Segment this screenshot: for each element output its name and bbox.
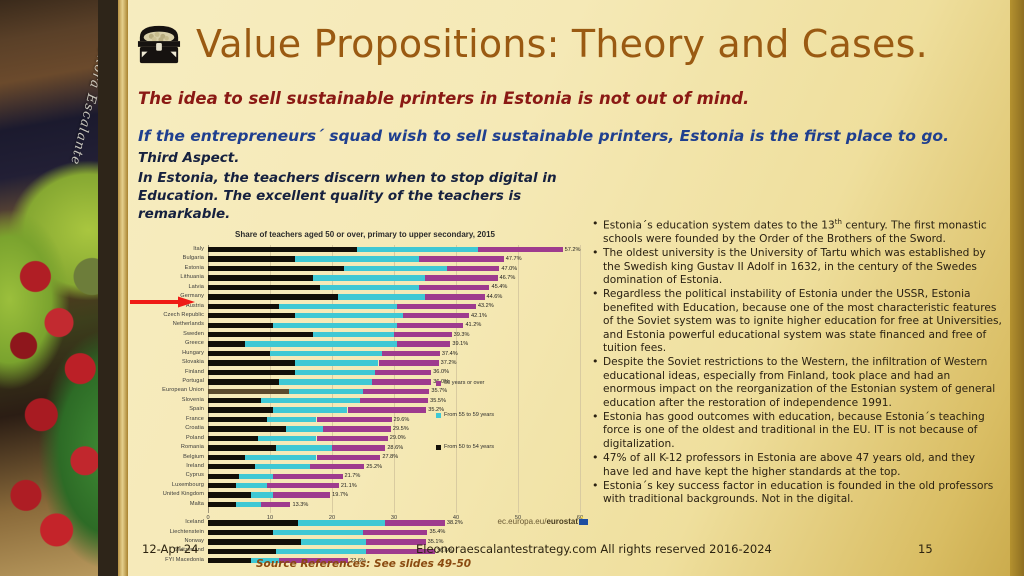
legend-item: 60 years or over <box>436 380 546 386</box>
bullet-item: Estonia has good outcomes with education… <box>590 411 1002 451</box>
segment-60-plus <box>397 323 463 328</box>
chart-value-label: 37.2% <box>439 360 457 366</box>
chart-row-label: Finland <box>140 370 208 376</box>
segment-50-54 <box>208 426 286 431</box>
segment-60-plus <box>273 492 330 497</box>
bullet-item: Despite the Soviet restrictions to the W… <box>590 356 1002 410</box>
segment-50-54 <box>208 445 276 450</box>
chart-row-label: Estonia <box>140 266 208 272</box>
chart-row: Germany44.6% <box>140 292 580 301</box>
bullet-item: The oldest university is the University … <box>590 247 1002 287</box>
chart-row-label: Italy <box>140 247 208 253</box>
bullet-item: Estonia´s education system dates to the … <box>590 218 1002 246</box>
chart-value-label: 27.8% <box>380 454 398 460</box>
chart-row-label: European Union <box>140 388 208 394</box>
segment-60-plus <box>419 285 490 290</box>
segment-50-54 <box>208 256 295 261</box>
segment-55-59 <box>289 389 363 394</box>
chart-row-label: Hungary <box>140 351 208 357</box>
segment-60-plus <box>372 379 431 384</box>
chart-value-label: 37.4% <box>440 351 458 357</box>
segment-55-59 <box>245 455 316 460</box>
subtitle-red: The idea to sell sustainable printers in… <box>138 89 749 108</box>
chart-row: Czech Republic42.1% <box>140 311 580 320</box>
segment-50-54 <box>208 341 245 346</box>
chart-row-label: Malta <box>140 502 208 508</box>
bullet-item: Estonia´s key success factor in educatio… <box>590 480 1002 507</box>
chart-bar: 19.7% <box>208 492 580 497</box>
bullet-item: 47% of all K-12 professors in Estonia ar… <box>590 452 1002 479</box>
chart-row-label: Luxembourg <box>140 483 208 489</box>
chart-row: Slovakia37.2% <box>140 358 580 367</box>
x-tick-label: 0 <box>206 515 209 521</box>
legend-label: 60 years or over <box>444 380 484 386</box>
segment-50-54 <box>208 323 273 328</box>
treasure-chest-icon <box>136 22 182 66</box>
segment-60-plus <box>403 313 469 318</box>
segment-50-54 <box>208 483 236 488</box>
legend-item: From 50 to 54 years <box>436 444 546 450</box>
segment-55-59 <box>270 351 382 356</box>
chart-bar: 39.1% <box>208 341 580 346</box>
legend-swatch <box>436 413 441 418</box>
segment-50-54 <box>208 313 295 318</box>
segment-55-59 <box>273 323 397 328</box>
chart-value-label: 21.1% <box>339 483 357 489</box>
segment-55-59 <box>255 464 311 469</box>
chart-value-label: 39.3% <box>452 332 470 338</box>
chart-row-label: France <box>140 417 208 423</box>
chart-row: Austria43.2% <box>140 302 580 311</box>
legend-swatch <box>436 445 441 450</box>
subtitle-body: In Estonia, the teachers discern when to… <box>138 170 608 224</box>
segment-50-54 <box>208 502 236 507</box>
segment-60-plus <box>394 332 452 337</box>
segment-60-plus <box>425 294 485 299</box>
chart-row-label: Romania <box>140 445 208 451</box>
segment-60-plus <box>267 483 339 488</box>
legend-label: From 55 to 59 years <box>444 412 494 418</box>
chart-bar: 44.6% <box>208 294 580 299</box>
segment-55-59 <box>273 407 347 412</box>
subtitle-blue: If the entrepreneurs´ squad wish to sell… <box>138 127 949 145</box>
segment-55-59 <box>267 417 317 422</box>
segment-60-plus <box>317 436 388 441</box>
chart-value-label: 29.6% <box>392 417 410 423</box>
segment-50-54 <box>208 304 279 309</box>
chart-row-label: Czech Republic <box>140 313 208 319</box>
segment-60-plus <box>310 464 364 469</box>
segment-50-54 <box>208 464 255 469</box>
segment-50-54 <box>208 389 289 394</box>
slide-canvas: Eleonora Escalante Value Propositions: T… <box>0 0 1024 576</box>
footer-copyright: Eleonoraescalantestrategy.com All rights… <box>416 542 772 556</box>
chart-bar: 47.7% <box>208 256 580 261</box>
segment-50-54 <box>208 285 320 290</box>
chart-row: Latvia45.4% <box>140 283 580 292</box>
segment-60-plus <box>478 247 563 252</box>
segment-60-plus <box>375 370 431 375</box>
segment-55-59 <box>279 304 397 309</box>
chart-legend: 60 years or overFrom 55 to 59 yearsFrom … <box>436 380 546 476</box>
bullet-item: Regardless the political instability of … <box>590 288 1002 355</box>
segment-55-59 <box>295 313 404 318</box>
chart-row-label: Slovakia <box>140 360 208 366</box>
chart-bar: 43.2% <box>208 304 580 309</box>
chart-value-label: 47.0% <box>499 266 517 272</box>
chart-value-label: 19.7% <box>330 492 348 498</box>
chart-title: Share of teachers aged 50 or over, prima… <box>140 230 590 239</box>
segment-60-plus <box>273 474 342 479</box>
legend-item: From 55 to 59 years <box>436 412 546 418</box>
chart-row: United Kingdom19.7% <box>140 490 580 499</box>
chart-row: Lithuania46.7% <box>140 273 580 282</box>
chart-bar: 36.0% <box>208 370 580 375</box>
x-tick-label: 40 <box>453 515 459 521</box>
chart-plot-area: Italy57.2%Bulgaria47.7%Estonia47.0%Lithu… <box>140 245 590 527</box>
chart-row-label: Poland <box>140 436 208 442</box>
chart-row-label: Ireland <box>140 464 208 470</box>
segment-55-59 <box>239 474 273 479</box>
chart-value-label: 25.2% <box>364 464 382 470</box>
eurostat-chart: Share of teachers aged 50 or over, prima… <box>140 230 590 540</box>
chart-row: Italy57.2% <box>140 245 580 254</box>
chart-bar: 46.7% <box>208 275 580 280</box>
chart-row-label: Portugal <box>140 379 208 385</box>
chart-value-label: 57.2% <box>563 247 581 253</box>
chart-row-label: Latvia <box>140 285 208 291</box>
chart-value-label: 43.2% <box>476 303 494 309</box>
eu-flag-icon <box>579 519 588 525</box>
segment-55-59 <box>313 275 425 280</box>
chart-value-label: 47.7% <box>504 256 522 262</box>
segment-50-54 <box>208 332 313 337</box>
chart-value-label: 13.3% <box>290 502 308 508</box>
segment-60-plus <box>317 455 381 460</box>
segment-55-59 <box>276 445 332 450</box>
page-title: Value Propositions: Theory and Cases. <box>196 22 928 66</box>
chart-bar: 13.3% <box>208 502 580 507</box>
chart-bar: 39.3% <box>208 332 580 337</box>
segment-50-54 <box>208 275 313 280</box>
chart-row: Malta13.3% <box>140 500 580 509</box>
segment-50-54 <box>208 474 239 479</box>
bullet-panel: Estonia´s education system dates to the … <box>590 218 1002 508</box>
chart-row-label: United Kingdom <box>140 492 208 498</box>
segment-60-plus <box>332 445 385 450</box>
title-row: Value Propositions: Theory and Cases. <box>136 22 928 66</box>
chart-value-label: 45.4% <box>489 284 507 290</box>
chart-bar: 41.2% <box>208 323 580 328</box>
chart-row-label: Spain <box>140 407 208 413</box>
eurostat-logo: ec.europa.eu/eurostat <box>498 517 589 526</box>
chart-bar: 45.4% <box>208 285 580 290</box>
segment-55-59 <box>245 341 397 346</box>
artwork-dark-border <box>98 0 118 576</box>
segment-60-plus <box>323 426 391 431</box>
segment-55-59 <box>251 492 273 497</box>
chart-row: Luxembourg21.1% <box>140 481 580 490</box>
segment-55-59 <box>236 483 267 488</box>
bullet-list: Estonia´s education system dates to the … <box>590 218 1002 507</box>
segment-60-plus <box>360 398 428 403</box>
segment-50-54 <box>208 492 251 497</box>
segment-55-59 <box>313 332 394 337</box>
segment-55-59 <box>357 247 478 252</box>
footer-source-reference: Source References: See slides 49-50 <box>256 558 471 570</box>
chart-row-label: Belgium <box>140 455 208 461</box>
chart-bar: 21.1% <box>208 483 580 488</box>
segment-55-59 <box>295 370 376 375</box>
red-arrow-pointer <box>130 296 196 308</box>
segment-55-59 <box>236 502 261 507</box>
chart-row: Estonia47.0% <box>140 264 580 273</box>
chart-row-label: Iceland <box>140 520 208 526</box>
segment-60-plus <box>419 256 504 261</box>
segment-55-59 <box>320 285 419 290</box>
x-tick-label: 30 <box>391 515 397 521</box>
chart-row-label: Netherlands <box>140 322 208 328</box>
segment-60-plus <box>348 407 427 412</box>
chart-row-label: Sweden <box>140 332 208 338</box>
chart-row: Hungary37.4% <box>140 349 580 358</box>
chart-bar: 42.1% <box>208 313 580 318</box>
chart-row: Greece39.1% <box>140 339 580 348</box>
segment-50-54 <box>208 436 258 441</box>
chart-row-label: Greece <box>140 341 208 347</box>
chart-value-label: 44.6% <box>485 294 503 300</box>
chart-row: Finland36.0% <box>140 368 580 377</box>
chart-value-label: 36.0% <box>431 369 449 375</box>
chart-bar: 57.2% <box>208 247 580 252</box>
segment-60-plus <box>425 275 498 280</box>
segment-55-59 <box>295 256 419 261</box>
slide-footer: 12-Apr-24 Eleonoraescalantestrategy.com … <box>128 534 1010 576</box>
segment-55-59 <box>344 266 446 271</box>
chart-value-label: 28.6% <box>385 445 403 451</box>
segment-50-54 <box>208 455 245 460</box>
segment-60-plus <box>363 389 429 394</box>
chart-bar: 47.0% <box>208 266 580 271</box>
segment-60-plus <box>261 502 291 507</box>
segment-50-54 <box>208 417 267 422</box>
chart-row-label: Cyprus <box>140 473 208 479</box>
x-tick-label: 10 <box>267 515 273 521</box>
x-tick-label: 20 <box>329 515 335 521</box>
footer-date: 12-Apr-24 <box>142 542 198 556</box>
chart-row-label: Bulgaria <box>140 256 208 262</box>
artwork-gold-border <box>118 0 128 576</box>
segment-50-54 <box>208 379 279 384</box>
chart-value-label: 41.2% <box>463 322 481 328</box>
subtitle-third-aspect: Third Aspect. <box>138 150 239 166</box>
segment-60-plus <box>382 351 440 356</box>
chart-value-label: 21.7% <box>343 473 361 479</box>
chart-value-label: 46.7% <box>498 275 516 281</box>
chart-value-label: 39.1% <box>450 341 468 347</box>
legend-label: From 50 to 54 years <box>444 444 494 450</box>
chart-row-label: Lithuania <box>140 275 208 281</box>
segment-50-54 <box>208 266 344 271</box>
segment-50-54 <box>208 370 295 375</box>
chart-row-label: Slovenia <box>140 398 208 404</box>
segment-60-plus <box>397 341 450 346</box>
right-gold-edge <box>1010 0 1024 576</box>
segment-55-59 <box>295 360 379 365</box>
chart-value-label: 29.0% <box>388 435 406 441</box>
segment-60-plus <box>397 304 476 309</box>
chart-row: Sweden39.3% <box>140 330 580 339</box>
legend-swatch <box>436 381 441 386</box>
segment-50-54 <box>208 294 338 299</box>
segment-55-59 <box>338 294 425 299</box>
segment-60-plus <box>317 417 392 422</box>
chart-row: Bulgaria47.7% <box>140 254 580 263</box>
segment-50-54 <box>208 407 273 412</box>
segment-60-plus <box>379 360 439 365</box>
chart-bar: 37.4% <box>208 351 580 356</box>
chart-value-label: 29.5% <box>391 426 409 432</box>
segment-55-59 <box>279 379 372 384</box>
segment-50-54 <box>208 398 261 403</box>
gridline-60 <box>580 245 581 513</box>
segment-60-plus <box>447 266 500 271</box>
segment-55-59 <box>286 426 323 431</box>
chart-row-label: Croatia <box>140 426 208 432</box>
segment-50-54 <box>208 247 357 252</box>
segment-55-59 <box>258 436 317 441</box>
chart-value-label: 42.1% <box>469 313 487 319</box>
segment-50-54 <box>208 360 295 365</box>
chart-row: Netherlands41.2% <box>140 321 580 330</box>
footer-page-number: 15 <box>918 542 933 556</box>
segment-55-59 <box>261 398 360 403</box>
chart-bar: 37.2% <box>208 360 580 365</box>
segment-50-54 <box>208 351 270 356</box>
slide-content: Value Propositions: Theory and Cases. Th… <box>128 0 1010 576</box>
